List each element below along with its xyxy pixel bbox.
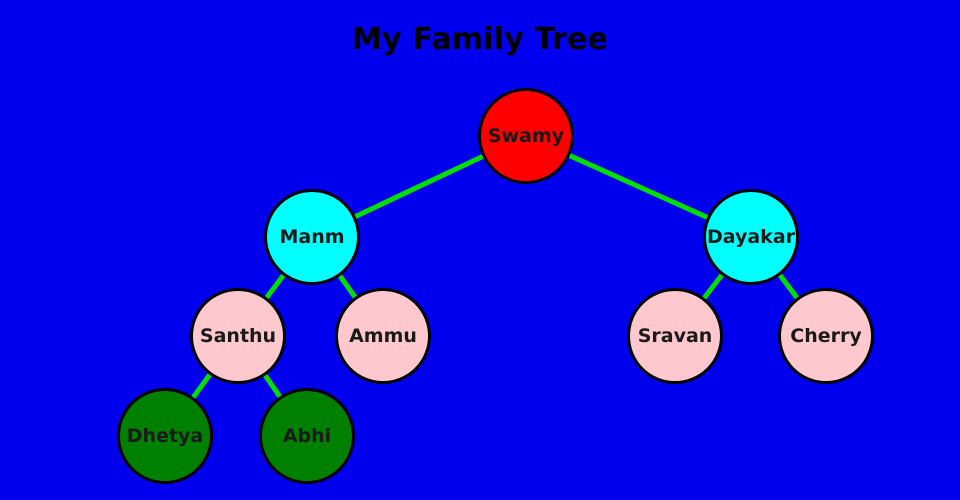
tree-node-cherry[interactable]: Cherry [778,288,874,384]
tree-edge-swamy-manm [354,156,485,218]
tree-node-santhu[interactable]: Santhu [190,288,286,384]
tree-edge-dayakar-cherry [779,274,798,300]
tree-node-dayakar[interactable]: Dayakar [703,189,799,285]
tree-node-ammu[interactable]: Ammu [335,288,431,384]
tree-node-abhi[interactable]: Abhi [259,388,355,484]
tree-edge-swamy-dayakar [568,155,709,218]
tree-edge-manm-ammu [339,274,356,298]
tree-edge-manm-santhu [266,274,285,299]
tree-node-label: Santhu [200,327,276,346]
tree-node-label: Dayakar [707,228,795,247]
tree-node-label: Sravan [638,327,713,346]
tree-node-label: Ammu [349,327,417,346]
tree-edge-dayakar-sravan [703,273,723,299]
tree-node-label: Manm [279,228,344,247]
tree-node-dhetya[interactable]: Dhetya [117,388,213,484]
tree-node-label: Swamy [488,127,564,146]
tree-node-sravan[interactable]: Sravan [627,288,723,384]
tree-node-manm[interactable]: Manm [264,189,360,285]
family-tree-canvas: My Family Tree SwamyManmDayakarSanthuAmm… [0,0,960,500]
tree-node-label: Cherry [790,327,861,346]
tree-edge-santhu-abhi [264,374,281,398]
tree-node-swamy[interactable]: Swamy [478,88,574,184]
tree-edge-santhu-dhetya [192,373,211,399]
tree-node-label: Dhetya [127,427,203,446]
tree-node-label: Abhi [283,427,331,446]
